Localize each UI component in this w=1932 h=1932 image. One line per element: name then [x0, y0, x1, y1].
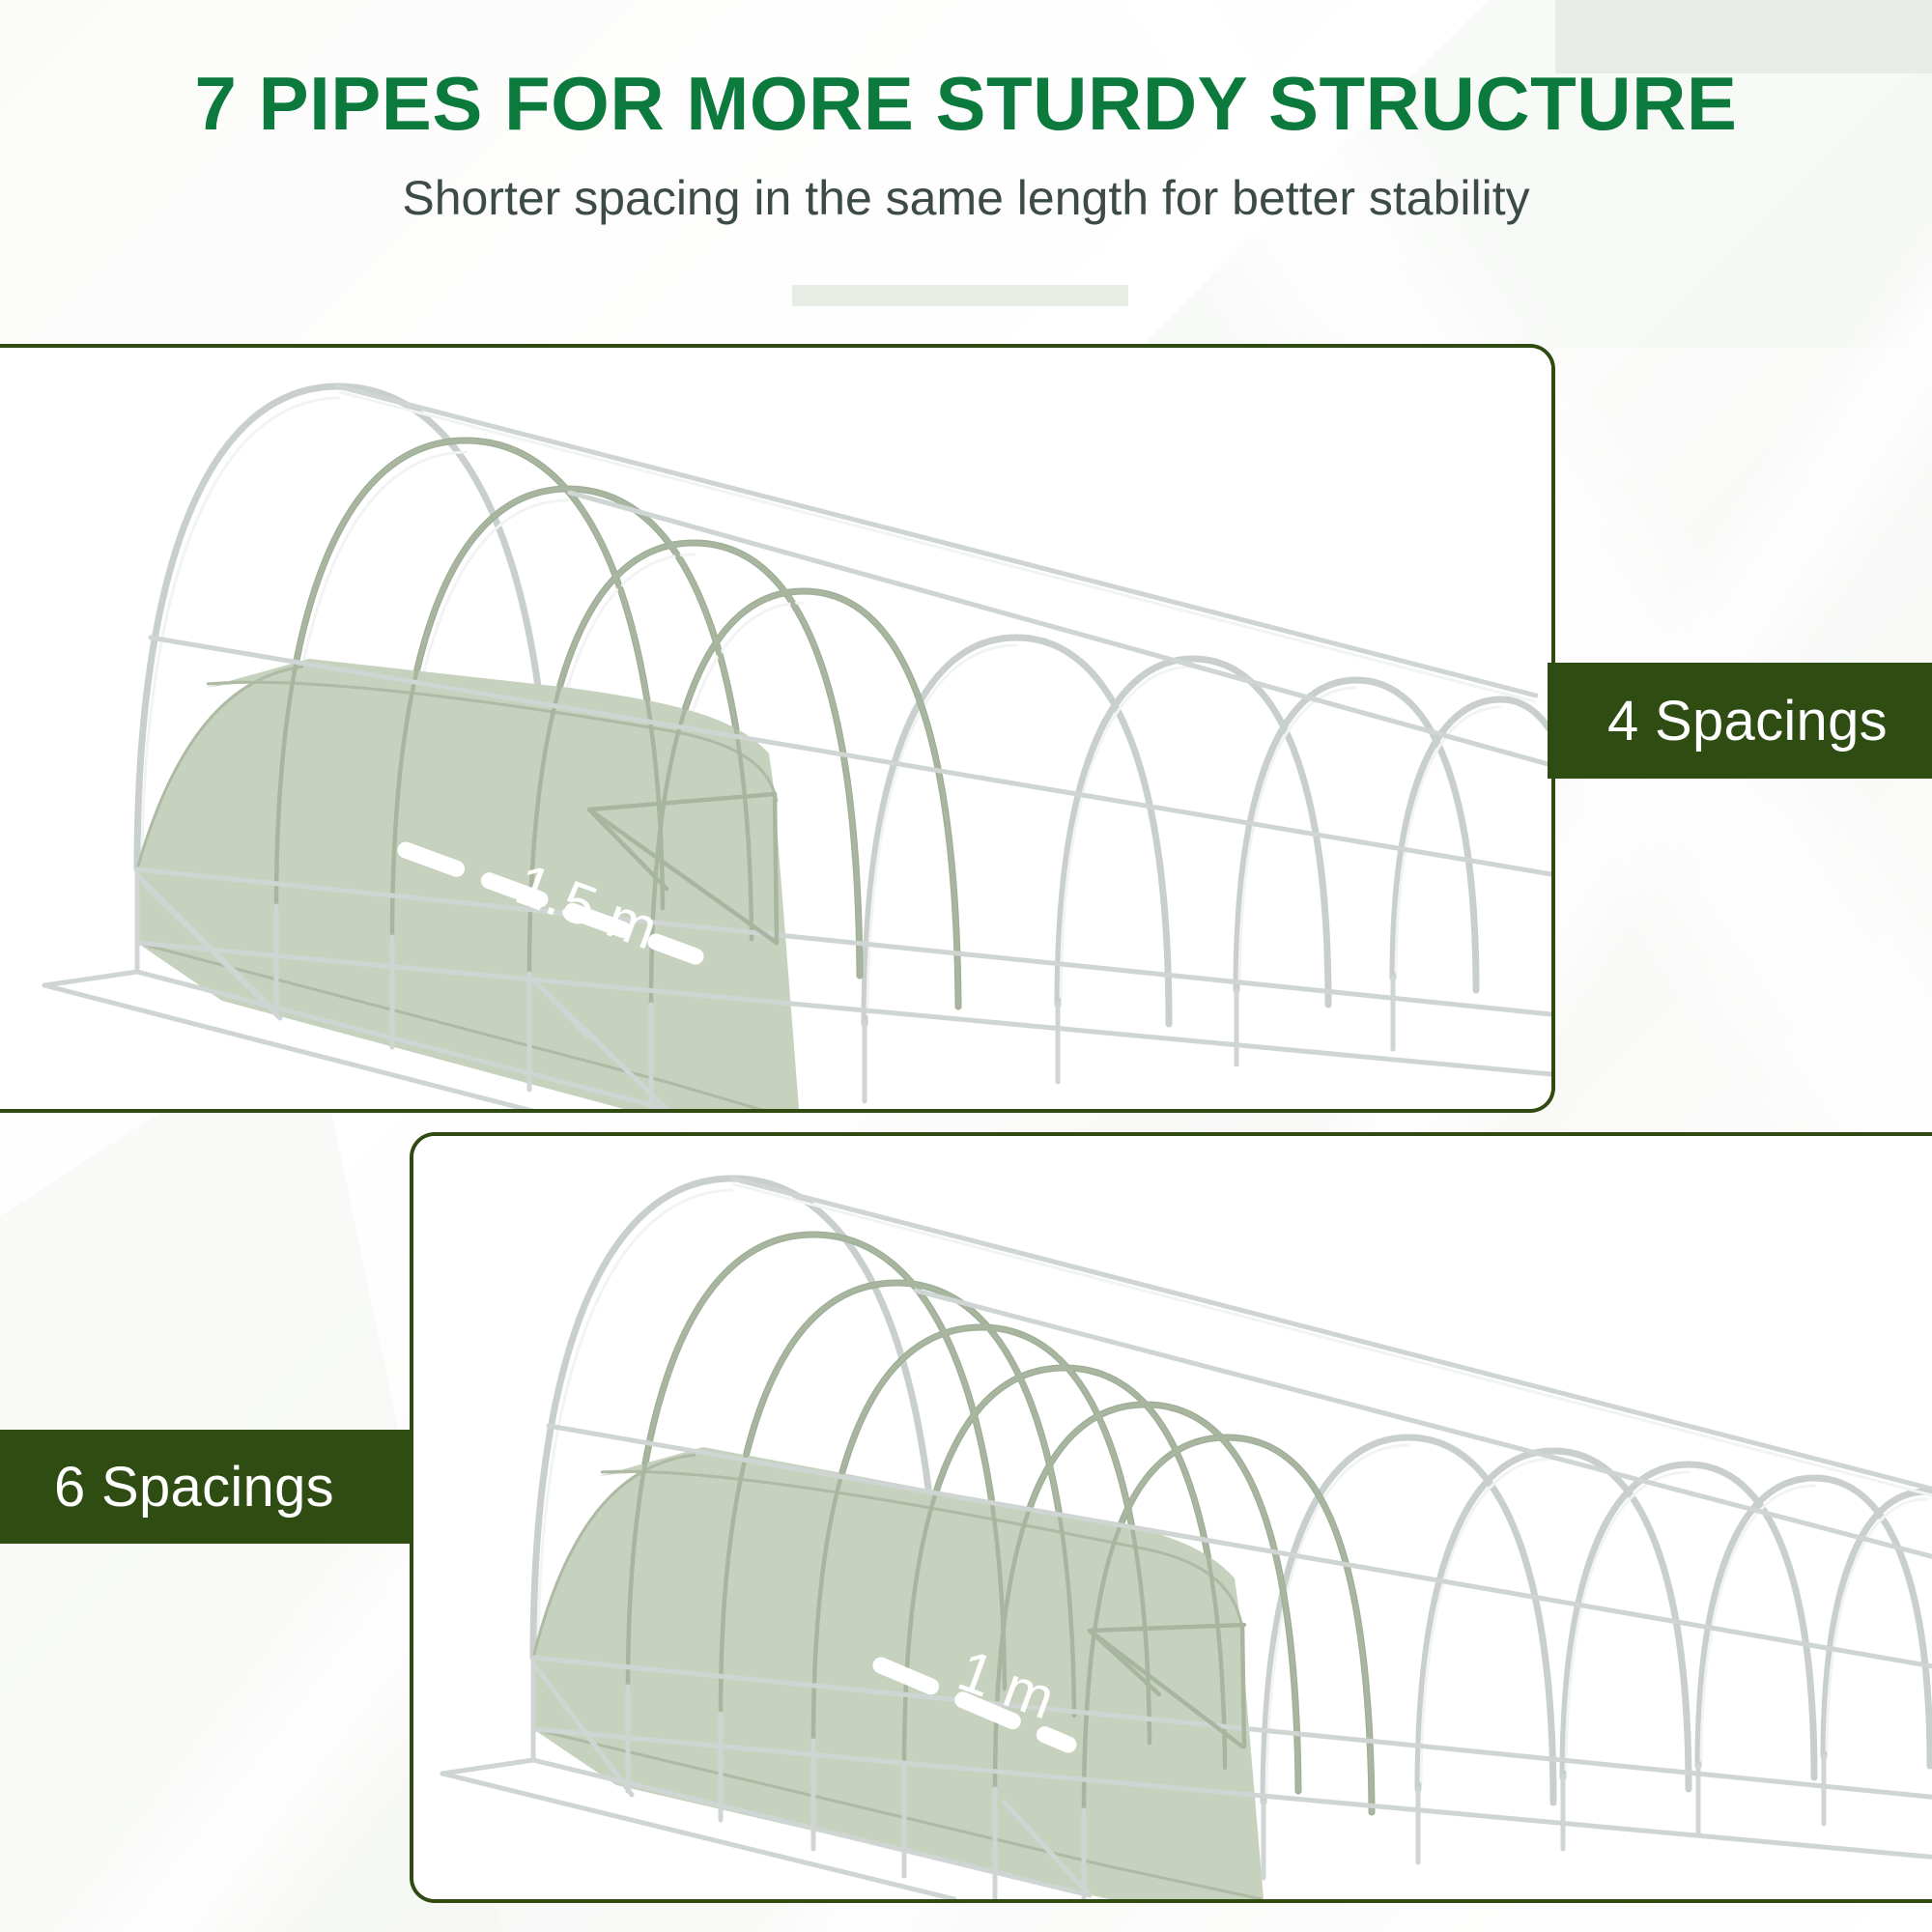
badge-six-spacings-label: 6 Spacings	[54, 1455, 334, 1520]
badge-four-spacings: 4 Spacings	[1548, 663, 1932, 779]
panel-six-spacings: 1 m	[410, 1132, 1932, 1903]
header: 7 PIPES FOR MORE STURDY STRUCTURE Shorte…	[0, 0, 1932, 328]
greenhouse-illustration-wide-spacing: 1.5 m	[0, 348, 1551, 1109]
badge-four-spacings-label: 4 Spacings	[1607, 689, 1888, 753]
infographic-root: 7 PIPES FOR MORE STURDY STRUCTURE Shorte…	[0, 0, 1932, 1932]
panel-top-canvas: 1.5 m	[0, 348, 1551, 1109]
greenhouse-illustration-short-spacing: 1 m	[413, 1136, 1932, 1899]
page-subtitle: Shorter spacing in the same length for b…	[0, 170, 1932, 226]
panel-four-spacings: 1.5 m	[0, 344, 1555, 1113]
hoop-group-far	[865, 638, 1551, 1024]
shaded-film-band	[137, 659, 800, 1109]
panel-bottom-canvas: 1 m	[413, 1136, 1932, 1899]
hoop-group-far-bottom	[1264, 1437, 1932, 1803]
page-title: 7 PIPES FOR MORE STURDY STRUCTURE	[0, 60, 1932, 148]
badge-six-spacings: 6 Spacings	[0, 1430, 412, 1544]
accent-divider-bar	[792, 285, 1128, 306]
